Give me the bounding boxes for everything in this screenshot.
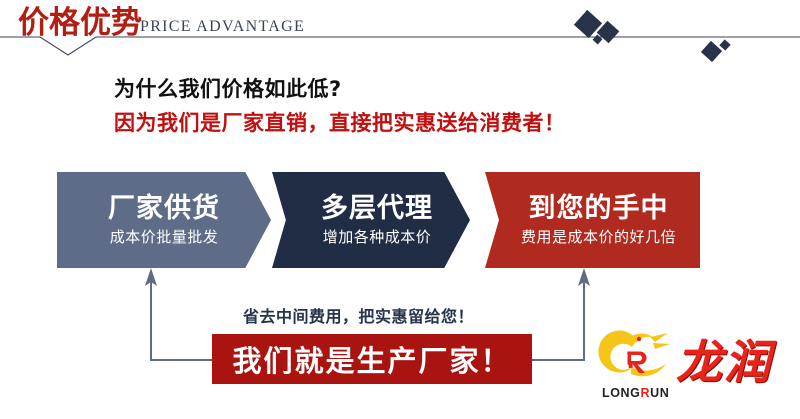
dragon-icon — [598, 330, 672, 392]
brand-name-latin: LONGRUN — [602, 386, 669, 400]
price-advantage-banner: 价格优势 PRICE ADVANTAGE 为什么我们价格如此低? 因为我们是厂家… — [0, 0, 800, 419]
flow-step-title: 厂家供货 — [108, 193, 220, 225]
header-title-en: PRICE ADVANTAGE — [140, 18, 305, 36]
factory-banner-text: 我们就是生产厂家！ — [232, 338, 511, 380]
header-divider-rule — [0, 36, 800, 58]
saving-note: 省去中间费用，把实惠留给您！ — [243, 303, 474, 327]
flow-step-agents: 多层代理 增加各种成本价 — [272, 172, 470, 268]
factory-banner: 我们就是生产厂家！ — [212, 334, 532, 384]
headline-question: 为什么我们价格如此低? — [114, 73, 342, 103]
brand-latin-left: LONG — [602, 386, 641, 400]
flow-step-subtitle: 增加各种成本价 — [323, 228, 432, 247]
headline-answer: 因为我们是厂家直销，直接把实惠送给消费者！ — [114, 107, 566, 137]
flow-step-subtitle: 费用是成本价的好几倍 — [521, 228, 676, 247]
flow-step-title: 到您的手中 — [528, 193, 668, 225]
brand-latin-mid: R — [641, 386, 651, 400]
flow-step-customer: 到您的手中 费用是成本价的好几倍 — [485, 172, 700, 268]
flow-step-title: 多层代理 — [321, 193, 433, 225]
brand-logo: 龙润 LONGRUN — [598, 330, 794, 408]
brand-latin-right: UN — [650, 386, 669, 400]
brand-name-cn: 龙润 — [676, 326, 772, 392]
flow-step-subtitle: 成本价批量批发 — [110, 228, 219, 247]
flow-step-manufacturer: 厂家供货 成本价批量批发 — [57, 172, 271, 268]
